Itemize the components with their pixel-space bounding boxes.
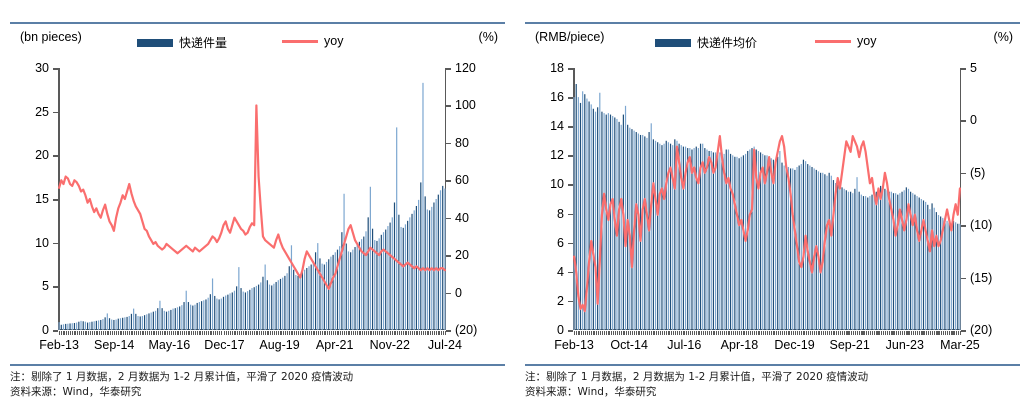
x-minor-tick — [930, 331, 931, 335]
x-minor-tick — [949, 331, 950, 335]
bar — [730, 154, 731, 330]
bar — [846, 190, 847, 330]
x-minor-tick — [664, 331, 665, 335]
y-tick — [568, 301, 573, 303]
y-tick-label: 4 — [557, 265, 564, 279]
x-minor-tick — [232, 331, 233, 335]
legend-item-line-right: yoy — [815, 34, 876, 48]
x-minor-tick — [274, 331, 275, 335]
y2-tick-label: 60 — [455, 173, 469, 187]
x-minor-tick — [195, 331, 196, 335]
chart-source-right: 资料来源：Wind，华泰研究 — [525, 385, 656, 400]
x-minor-tick — [436, 331, 437, 335]
x-minor-tick — [265, 331, 266, 335]
bar — [573, 97, 574, 330]
bar — [689, 148, 690, 330]
bar — [225, 296, 226, 331]
bar — [794, 170, 795, 330]
panel-parcel-price: (RMB/piece) (%) 快递件均价 yoy 02468101214161… — [515, 0, 1030, 412]
bar — [221, 299, 222, 330]
bar — [642, 135, 643, 330]
bar — [284, 276, 285, 330]
panel-parcel-volume: (bn pieces) (%) 快递件量 yoy 051015202530(20… — [0, 0, 515, 412]
x-minor-tick — [74, 331, 75, 335]
x-minor-tick — [671, 331, 672, 335]
series-layer-left — [58, 68, 446, 330]
bar — [766, 155, 767, 330]
x-minor-tick — [900, 331, 901, 335]
x-minor-tick — [79, 331, 80, 335]
x-tick-label: Sep-14 — [94, 338, 134, 352]
y2-tick-label: 0 — [455, 286, 462, 300]
x-minor-tick — [748, 331, 749, 335]
x-minor-tick — [430, 331, 431, 335]
bar — [747, 151, 748, 330]
x-minor-tick — [346, 331, 347, 335]
bar — [711, 151, 712, 330]
x-minor-tick — [114, 331, 115, 335]
x-minor-tick — [353, 331, 354, 335]
y-tick-label: 12 — [550, 148, 564, 162]
x-minor-tick — [213, 331, 214, 335]
x-minor-tick — [184, 331, 185, 335]
x-minor-tick — [735, 331, 736, 335]
bar — [96, 321, 97, 330]
x-minor-tick — [726, 331, 727, 335]
bar — [938, 215, 939, 330]
y2-tick-label: 120 — [455, 61, 476, 75]
y-tick-label: 10 — [550, 177, 564, 191]
bar — [354, 247, 355, 330]
bar — [422, 83, 423, 330]
x-minor-tick — [651, 331, 652, 335]
y-tick-label: 5 — [42, 279, 49, 293]
bar — [322, 264, 323, 330]
bar — [251, 288, 252, 330]
x-minor-tick — [386, 331, 387, 335]
y-tick — [53, 330, 58, 332]
bar — [89, 322, 90, 330]
bar — [271, 285, 272, 330]
x-minor-tick — [851, 331, 852, 335]
bar — [346, 244, 347, 330]
x-minor-tick — [782, 331, 783, 335]
bar — [245, 292, 246, 330]
x-minor-tick — [248, 331, 249, 335]
x-minor-tick — [741, 331, 742, 335]
x-minor-tick — [188, 331, 189, 335]
y-tick — [53, 286, 58, 288]
x-minor-tick — [709, 331, 710, 335]
bar — [352, 250, 353, 330]
bar — [80, 321, 81, 330]
bar — [631, 129, 632, 330]
x-minor-tick — [696, 331, 697, 335]
bar — [396, 127, 397, 330]
bar — [895, 193, 896, 330]
bar — [414, 210, 415, 330]
x-minor-tick — [844, 331, 845, 335]
bar — [636, 132, 637, 330]
x-minor-tick — [885, 331, 886, 335]
y-tick-label: 25 — [35, 105, 49, 119]
x-minor-tick — [381, 331, 382, 335]
x-minor-tick — [197, 331, 198, 335]
x-minor-tick — [718, 331, 719, 335]
bar — [278, 280, 279, 330]
x-tick-label: Feb-13 — [39, 338, 79, 352]
series-layer-right — [573, 68, 961, 330]
x-minor-tick — [628, 331, 629, 335]
bar — [265, 265, 266, 331]
bar — [595, 112, 596, 330]
bar — [126, 317, 127, 330]
bar — [363, 237, 364, 330]
top-rule-right — [525, 22, 1020, 24]
x-minor-tick — [162, 331, 163, 335]
x-minor-tick — [722, 331, 723, 335]
x-minor-tick — [746, 331, 747, 335]
x-minor-tick — [362, 331, 363, 335]
bar — [74, 323, 75, 330]
x-minor-tick — [596, 331, 597, 335]
x-minor-tick — [739, 331, 740, 335]
x-minor-tick — [812, 331, 813, 335]
x-minor-tick — [208, 331, 209, 335]
x-minor-tick — [947, 331, 948, 335]
bar — [115, 320, 116, 330]
x-minor-tick — [204, 331, 205, 335]
bar — [732, 155, 733, 330]
bar — [227, 295, 228, 330]
x-minor-tick — [786, 331, 787, 335]
x-minor-tick — [803, 331, 804, 335]
bottom-rule-right — [525, 364, 1020, 366]
legend-line-swatch-icon — [282, 40, 318, 43]
bar — [109, 318, 110, 330]
x-minor-tick — [127, 331, 128, 335]
x-minor-tick — [666, 331, 667, 335]
y-tick — [568, 184, 573, 186]
legend-bar-swatch-icon — [655, 39, 691, 47]
x-minor-tick — [731, 331, 732, 335]
x-minor-tick — [294, 331, 295, 335]
x-minor-tick — [829, 331, 830, 335]
x-minor-tick — [743, 331, 744, 335]
y-tick-label: 20 — [35, 148, 49, 162]
bar — [721, 152, 722, 330]
bar — [118, 319, 119, 330]
bar — [177, 307, 178, 330]
bar — [188, 302, 189, 330]
x-minor-tick — [342, 331, 343, 335]
x-minor-tick — [838, 331, 839, 335]
y-tick-label: 18 — [550, 61, 564, 75]
x-minor-tick — [368, 331, 369, 335]
x-minor-tick — [737, 331, 738, 335]
x-minor-tick — [767, 331, 768, 335]
y2-tick — [446, 255, 451, 257]
bar — [300, 274, 301, 330]
x-minor-tick — [388, 331, 389, 335]
bar — [240, 288, 241, 330]
legend-label-line-right: yoy — [857, 34, 876, 48]
x-minor-tick — [156, 331, 157, 335]
x-minor-tick — [833, 331, 834, 335]
x-minor-tick — [600, 331, 601, 335]
x-minor-tick — [701, 331, 702, 335]
bar — [100, 320, 101, 330]
y2-tick — [446, 68, 451, 70]
bar — [593, 109, 594, 330]
x-minor-tick — [302, 331, 303, 335]
x-minor-tick — [287, 331, 288, 335]
bar — [238, 267, 239, 330]
x-minor-tick — [636, 331, 637, 335]
x-minor-tick — [675, 331, 676, 335]
x-minor-tick — [313, 331, 314, 335]
yoy-line — [59, 105, 445, 288]
bar — [584, 94, 585, 330]
x-minor-tick — [788, 331, 789, 335]
bar — [262, 277, 263, 330]
bar — [249, 290, 250, 330]
x-minor-tick — [421, 331, 422, 335]
y2-tick-label: (5) — [970, 166, 985, 180]
x-minor-tick — [169, 331, 170, 335]
x-minor-tick — [643, 331, 644, 335]
x-minor-tick — [414, 331, 415, 335]
x-minor-tick — [945, 331, 946, 335]
x-minor-tick — [630, 331, 631, 335]
x-minor-tick — [904, 331, 905, 335]
y2-tick-label: 80 — [455, 136, 469, 150]
x-minor-tick — [621, 331, 622, 335]
bar — [811, 167, 812, 330]
bar — [784, 166, 785, 330]
x-minor-tick — [585, 331, 586, 335]
bar — [691, 150, 692, 330]
x-tick-label: Dec-17 — [204, 338, 244, 352]
x-minor-tick — [848, 331, 849, 335]
x-minor-tick — [276, 331, 277, 335]
y2-tick-label: (10) — [970, 218, 992, 232]
bar — [105, 317, 106, 330]
x-tick-label: Jul-16 — [667, 338, 701, 352]
x-minor-tick — [131, 331, 132, 335]
bar — [286, 273, 287, 330]
bar — [646, 138, 647, 330]
x-minor-tick — [686, 331, 687, 335]
bar — [385, 230, 386, 330]
x-minor-tick — [250, 331, 251, 335]
bar — [953, 221, 954, 330]
y2-tick — [446, 143, 451, 145]
x-minor-tick — [309, 331, 310, 335]
x-minor-tick — [335, 331, 336, 335]
bar — [773, 160, 774, 330]
bar — [854, 189, 855, 330]
x-minor-tick — [252, 331, 253, 335]
x-minor-tick — [868, 331, 869, 335]
y-tick — [568, 330, 573, 332]
bar — [324, 265, 325, 331]
y2-tick — [446, 218, 451, 220]
y2-tick — [961, 278, 966, 280]
x-minor-tick — [816, 331, 817, 335]
x-minor-tick — [793, 331, 794, 335]
bar — [111, 320, 112, 330]
bar — [863, 196, 864, 330]
legend-left: 快递件量 yoy — [12, 32, 502, 50]
bar — [741, 157, 742, 330]
bar — [844, 189, 845, 330]
x-minor-tick — [791, 331, 792, 335]
bar — [280, 279, 281, 330]
x-minor-tick — [167, 331, 168, 335]
x-minor-tick — [280, 331, 281, 335]
bar — [133, 309, 134, 330]
y2-tick — [446, 293, 451, 295]
x-minor-tick — [623, 331, 624, 335]
x-minor-tick — [318, 331, 319, 335]
y-tick-label: 0 — [557, 323, 564, 337]
x-minor-tick — [801, 331, 802, 335]
x-minor-tick — [919, 331, 920, 335]
x-minor-tick — [175, 331, 176, 335]
bar — [659, 144, 660, 330]
bar — [405, 224, 406, 330]
bar — [343, 194, 344, 330]
x-minor-tick — [587, 331, 588, 335]
bar — [214, 296, 215, 330]
chart-note-right: 注：剔除了 1 月数据，2 月数据为 1-2 月累计值，平滑了 2020 疫情波… — [525, 370, 868, 385]
x-minor-tick — [72, 331, 73, 335]
x-minor-tick — [913, 331, 914, 335]
x-minor-tick — [410, 331, 411, 335]
y2-tick-label: 0 — [970, 113, 977, 127]
bar — [153, 312, 154, 330]
x-minor-tick — [142, 331, 143, 335]
x-minor-tick — [291, 331, 292, 335]
x-minor-tick — [936, 331, 937, 335]
x-minor-tick — [373, 331, 374, 335]
bar — [159, 301, 160, 330]
x-minor-tick — [278, 331, 279, 335]
x-minor-tick — [581, 331, 582, 335]
bar — [436, 199, 437, 330]
x-minor-tick — [780, 331, 781, 335]
x-minor-tick — [842, 331, 843, 335]
x-minor-tick — [698, 331, 699, 335]
bar — [107, 313, 108, 330]
y2-tick-label: 5 — [970, 61, 977, 75]
x-minor-tick — [728, 331, 729, 335]
x-minor-tick — [270, 331, 271, 335]
bar — [409, 217, 410, 330]
bar — [728, 150, 729, 330]
x-minor-tick — [425, 331, 426, 335]
bar — [704, 148, 705, 330]
x-minor-tick — [872, 331, 873, 335]
legend-item-line-left: yoy — [282, 34, 343, 48]
y-tick-label: 10 — [35, 236, 49, 250]
x-tick-label: Sep-21 — [830, 338, 870, 352]
x-minor-tick — [956, 331, 957, 335]
x-tick-label: Dec-19 — [774, 338, 814, 352]
bar — [258, 285, 259, 330]
x-minor-tick — [405, 331, 406, 335]
bar — [142, 316, 143, 330]
x-minor-tick — [377, 331, 378, 335]
y-tick-label: 8 — [557, 207, 564, 221]
bar — [927, 205, 928, 330]
x-minor-tick — [228, 331, 229, 335]
x-minor-tick — [821, 331, 822, 335]
bar — [874, 193, 875, 330]
bar — [779, 151, 780, 330]
x-tick-label: Jun-23 — [886, 338, 924, 352]
bar — [306, 268, 307, 330]
y-tick-label: 0 — [42, 323, 49, 337]
x-minor-tick — [333, 331, 334, 335]
x-minor-tick — [932, 331, 933, 335]
chart-source-left: 资料来源：Wind，华泰研究 — [10, 385, 141, 400]
y-tick — [568, 272, 573, 274]
x-minor-tick — [773, 331, 774, 335]
bar — [85, 322, 86, 330]
x-minor-tick — [129, 331, 130, 335]
x-minor-tick — [896, 331, 897, 335]
bar — [289, 266, 290, 330]
x-minor-tick — [164, 331, 165, 335]
y-tick — [53, 199, 58, 201]
x-minor-tick — [296, 331, 297, 335]
x-minor-tick — [638, 331, 639, 335]
x-minor-tick — [720, 331, 721, 335]
y-tick — [568, 155, 573, 157]
x-minor-tick — [591, 331, 592, 335]
x-minor-tick — [243, 331, 244, 335]
bar — [878, 190, 879, 330]
bar — [335, 252, 336, 330]
bar — [365, 231, 366, 330]
bar — [865, 196, 866, 330]
x-minor-tick — [364, 331, 365, 335]
x-minor-tick — [107, 331, 108, 335]
x-minor-tick — [690, 331, 691, 335]
bar — [69, 323, 70, 330]
bar — [311, 265, 312, 331]
bar — [236, 286, 237, 330]
x-minor-tick — [191, 331, 192, 335]
bar — [440, 190, 441, 330]
bar — [683, 147, 684, 330]
x-minor-tick — [61, 331, 62, 335]
bar — [297, 276, 298, 330]
x-minor-tick — [90, 331, 91, 335]
bar — [76, 323, 77, 330]
x-minor-tick — [120, 331, 121, 335]
bar — [644, 136, 645, 330]
y2-tick-label: (20) — [970, 323, 992, 337]
chart-box-right: (RMB/piece) (%) 快递件均价 yoy 02468101214161… — [527, 26, 1017, 360]
x-minor-tick — [758, 331, 759, 335]
x-minor-tick — [81, 331, 82, 335]
x-minor-tick — [110, 331, 111, 335]
y2-tick — [961, 173, 966, 175]
bar — [317, 243, 318, 330]
